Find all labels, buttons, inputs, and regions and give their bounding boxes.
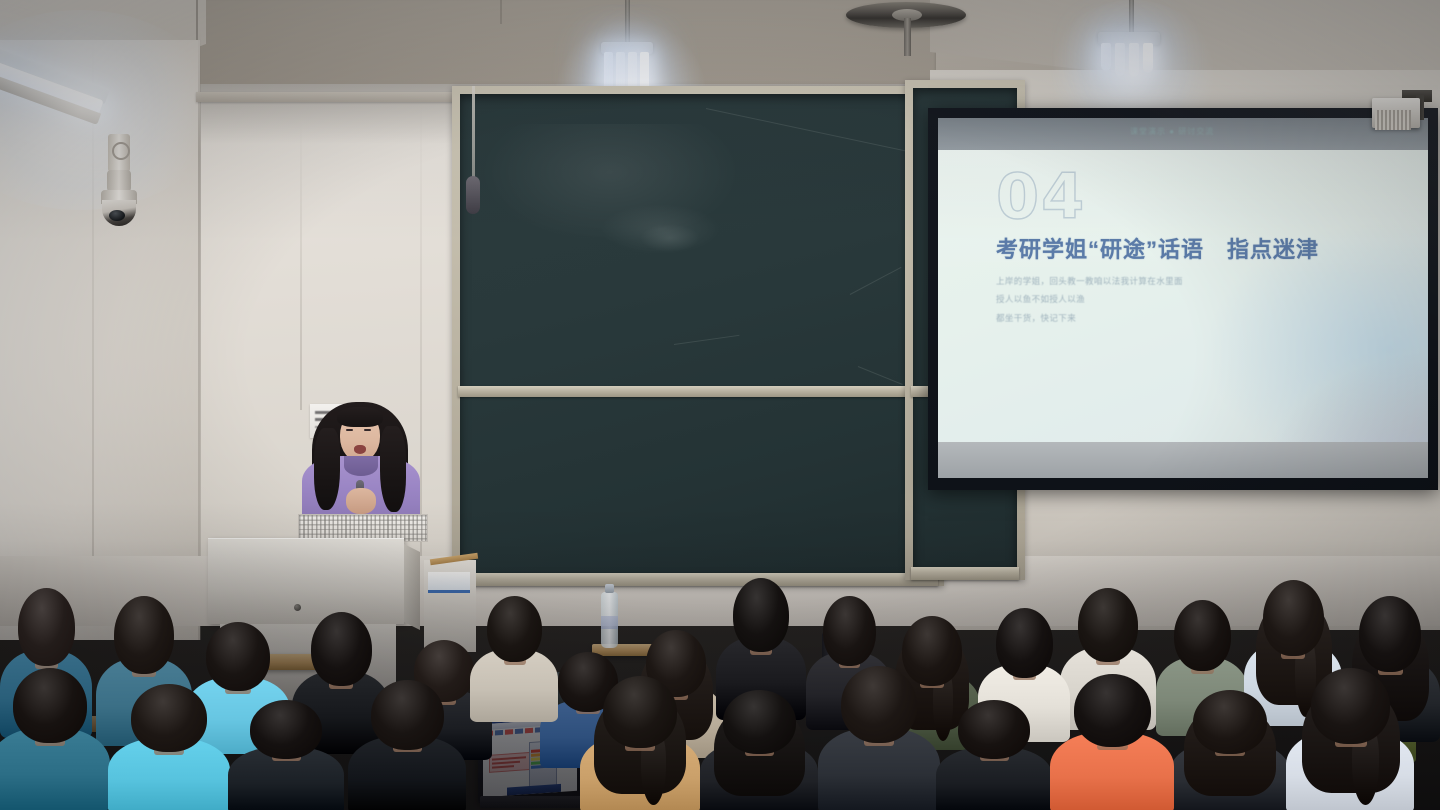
- laptop-highlight-box: [489, 752, 531, 773]
- audience-member-head: [1174, 600, 1231, 671]
- presentation-slide: 04 考研学姐“研途”话语 指点迷津 上岸的学姐，回头教一教咱以法我计算在水里面…: [938, 150, 1428, 444]
- audience-member: [580, 676, 700, 810]
- audience-member-head: [996, 608, 1053, 678]
- audience-member-head: [311, 612, 372, 686]
- wall-corner-edge: [198, 30, 201, 640]
- side-table: [424, 560, 476, 652]
- water-bottle: [601, 592, 618, 648]
- presenter-mouth: [354, 445, 366, 454]
- ceiling-soffit: [196, 0, 936, 96]
- audience-member: [470, 596, 558, 722]
- slide-body-line: 都坐干货，快记下来: [996, 309, 1183, 327]
- camera-neck: [107, 170, 131, 192]
- audience-member-head: [841, 666, 917, 743]
- pendant-rod: [625, 0, 630, 44]
- screen-letterbox-bottom: [938, 442, 1428, 478]
- pendant-tube: [1101, 43, 1111, 71]
- laptop-keyboard-base: [480, 796, 586, 808]
- audience-member-head: [733, 578, 789, 652]
- projector: [1372, 90, 1434, 134]
- audience-member: [348, 680, 466, 810]
- audience-member-head: [13, 668, 87, 743]
- blackboard-rail-middle: [458, 386, 938, 397]
- blackboard-chalk-tray: [911, 567, 1019, 580]
- lectern-side-face: [404, 544, 420, 630]
- screen-faint-header: 课堂演示 ● 研讨交流: [1130, 124, 1280, 138]
- pendant-tube: [1115, 43, 1125, 76]
- pendant-tube: [1129, 43, 1139, 77]
- ceiling-seam-secondary: [500, 0, 502, 24]
- audience-member: [108, 684, 230, 810]
- presenter-hair-strand: [314, 428, 340, 510]
- camera-bracket-ring: [112, 142, 130, 160]
- camera-lens-icon: [109, 210, 125, 221]
- audience-member-head: [250, 700, 322, 759]
- audience-member-head: [958, 700, 1030, 759]
- presenter-collar: [344, 456, 378, 476]
- slide-title: 考研学姐“研途”话语 指点迷津: [996, 232, 1319, 264]
- audience-member: [228, 700, 344, 810]
- presenter-hands: [346, 488, 376, 514]
- bottle-label: [601, 616, 618, 629]
- ceiling-fan: [846, 0, 966, 56]
- audience-member: [818, 666, 940, 810]
- audience-member-head: [1359, 596, 1421, 672]
- presenter-fringe: [337, 407, 383, 427]
- chalk-scratch: [850, 267, 902, 295]
- audience-member-head: [603, 676, 677, 748]
- lectern-knob: [294, 604, 301, 611]
- lecture-hall-photo: 课堂演示 ● 研讨交流 04 考研学姐“研途”话语 指点迷津 上岸的学姐，回头教…: [0, 0, 1440, 810]
- audience-member: [700, 690, 818, 810]
- slide-body-line: 授人以鱼不如授人以渔: [996, 290, 1183, 308]
- projector-vents: [1375, 110, 1411, 130]
- audience-member-head: [1078, 588, 1138, 662]
- audience-member: [936, 700, 1052, 810]
- pendant-tube: [1143, 43, 1153, 73]
- hanging-cord: [472, 86, 475, 182]
- audience-member-head: [1193, 690, 1267, 754]
- audience-member: [1286, 668, 1414, 810]
- audience-member-head: [487, 596, 542, 662]
- blackboard-surface: [460, 94, 936, 576]
- projector-body: [1372, 98, 1420, 128]
- audience-member-head: [371, 680, 444, 750]
- slide-body-line: 上岸的学姐，回头教一教咱以法我计算在水里面: [996, 272, 1183, 290]
- pendant-rod: [1129, 0, 1134, 34]
- blackboard: [452, 86, 944, 586]
- audience-member-head: [1263, 580, 1324, 656]
- audience-member: [1050, 674, 1174, 810]
- presenter: [296, 398, 424, 530]
- audience-member-head: [114, 596, 174, 674]
- tissue-box: [428, 572, 470, 593]
- wall-seam-2: [300, 120, 302, 410]
- left-wall: [0, 40, 200, 640]
- slide-body-text: 上岸的学姐，回头教一教咱以法我计算在水里面 授人以鱼不如授人以渔 都坐干货，快记…: [996, 272, 1183, 327]
- security-camera: [95, 134, 143, 238]
- presenter-hair-strand: [380, 426, 406, 512]
- fan-downrod: [904, 18, 911, 56]
- audience-member-head: [206, 622, 270, 691]
- audience-member-head: [823, 596, 876, 666]
- chalk-scratch: [858, 366, 903, 385]
- chalk-scratch: [674, 335, 739, 345]
- audience-member-head: [18, 588, 75, 666]
- audience-member: [1170, 690, 1290, 810]
- slide-section-number: 04: [996, 166, 1086, 228]
- hanging-pointer: [466, 176, 480, 214]
- audience-member-head: [1074, 674, 1151, 747]
- audience-member-head: [723, 690, 796, 754]
- audience-member-head: [131, 684, 207, 752]
- blackboard-chalk-tray: [458, 573, 938, 586]
- chalk-smudge: [640, 224, 700, 252]
- chalk-smudge: [600, 204, 720, 254]
- audience-member: [0, 668, 110, 810]
- blackboard-glare: [480, 124, 740, 244]
- chalk-scratch: [706, 108, 931, 157]
- bottle-cap: [605, 584, 614, 593]
- audience-member-head: [1311, 668, 1390, 744]
